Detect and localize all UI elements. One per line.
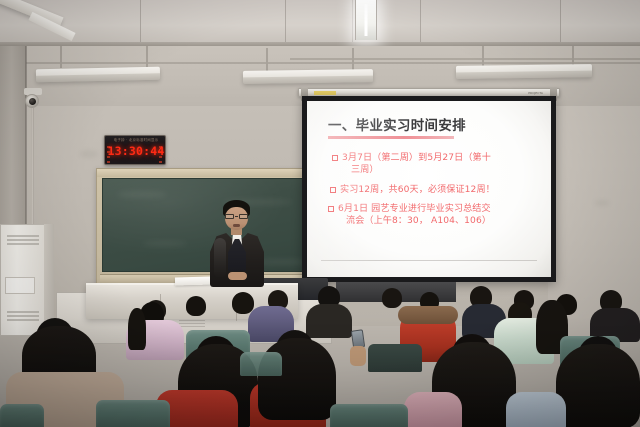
digital-clock: 电子钟 · 北京标准时间显示 13:30:44 (104, 135, 166, 165)
ceiling (0, 0, 640, 46)
student-head (232, 292, 254, 314)
ceiling-recessed-lamp (355, 0, 377, 40)
slide-footer-rule (321, 260, 537, 261)
screen-surface: 一、毕业实习时间安排 3月7日（第二周）到5月27日（第十 三周） 实习12周 (307, 101, 551, 277)
bullet-line-1: 3月7日（第二周）到5月27日（第十 (342, 153, 491, 163)
left-cabinet (0, 224, 48, 336)
student-blazer-pink (404, 392, 462, 427)
glasses-icon (225, 214, 248, 219)
bullet-text: 6月1日 园艺专业进行毕业实习总结交 流会（上午8：30， A104、106） (338, 203, 540, 227)
ceiling-light-fixture (456, 64, 592, 79)
fur-hood (398, 306, 458, 324)
presentation-slide: 一、毕业实习时间安排 3月7日（第二周）到5月27日（第十 三周） 实习12周 (307, 101, 551, 277)
slide-title-underline (328, 136, 454, 139)
bullet-line-1: 6月1日 园艺专业进行毕业实习总结交 (338, 204, 491, 214)
bullet-line-2: 流会（上午8：30， A104、106） (338, 215, 540, 227)
slide-bullet-item: 6月1日 园艺专业进行毕业实习总结交 流会（上午8：30， A104、106） (327, 203, 540, 227)
student-head (382, 288, 402, 308)
clock-header-text: 电子钟 · 北京标准时间显示 (105, 137, 166, 144)
presenter (206, 200, 268, 292)
slide-bullet-item: 实习12周，共60天，必须保证12周！ (327, 184, 540, 196)
right-wall (548, 106, 640, 326)
bullet-line-1: 实习12周，共60天，必须保证12周！ (340, 185, 495, 195)
bullet-text: 实习12周，共60天，必须保证12周！ (340, 184, 540, 196)
student-hair (556, 344, 640, 427)
slide-bullet-item: 3月7日（第二周）到5月27日（第十 三周） (327, 152, 540, 176)
chair-back (240, 352, 282, 376)
slide-bullet-list: 3月7日（第二周）到5月27日（第十 三周） 实习12周，共60天，必须保证12… (320, 152, 540, 228)
classroom-photo: 电子钟 · 北京标准时间显示 13:30:44 PROJECTA 一、毕业实习时… (0, 0, 640, 427)
bullet-square-icon (332, 155, 338, 161)
bullet-text: 3月7日（第二周）到5月27日（第十 三周） (342, 152, 540, 176)
camera-lens (29, 98, 36, 105)
bullet-square-icon (330, 187, 336, 193)
presenter-hands (228, 272, 247, 280)
ceiling-light-fixture (243, 69, 373, 84)
slide-title: 一、毕业实习时间安排 (320, 114, 540, 134)
ceiling-light-fixture (36, 67, 160, 83)
clock-time-display: 13:30:44 (105, 145, 166, 158)
student-hair (128, 308, 146, 350)
student-hair (258, 338, 336, 420)
bullet-square-icon (328, 206, 334, 212)
chair-back (330, 404, 408, 427)
bullet-line-2: 三周） (342, 164, 540, 176)
chair-back (96, 400, 170, 427)
projection-screen: 一、毕业实习时间安排 3月7日（第二周）到5月27日（第十 三周） 实习12周 (302, 96, 556, 282)
chair-back (368, 344, 422, 372)
student-jacket (306, 304, 352, 338)
student-head (186, 296, 206, 316)
housing-model-label: PROJECTA (513, 92, 543, 96)
housing-sticker (314, 91, 336, 95)
student-hand (350, 346, 366, 366)
chair-back (0, 404, 44, 427)
student-shirt-blue (506, 392, 566, 427)
